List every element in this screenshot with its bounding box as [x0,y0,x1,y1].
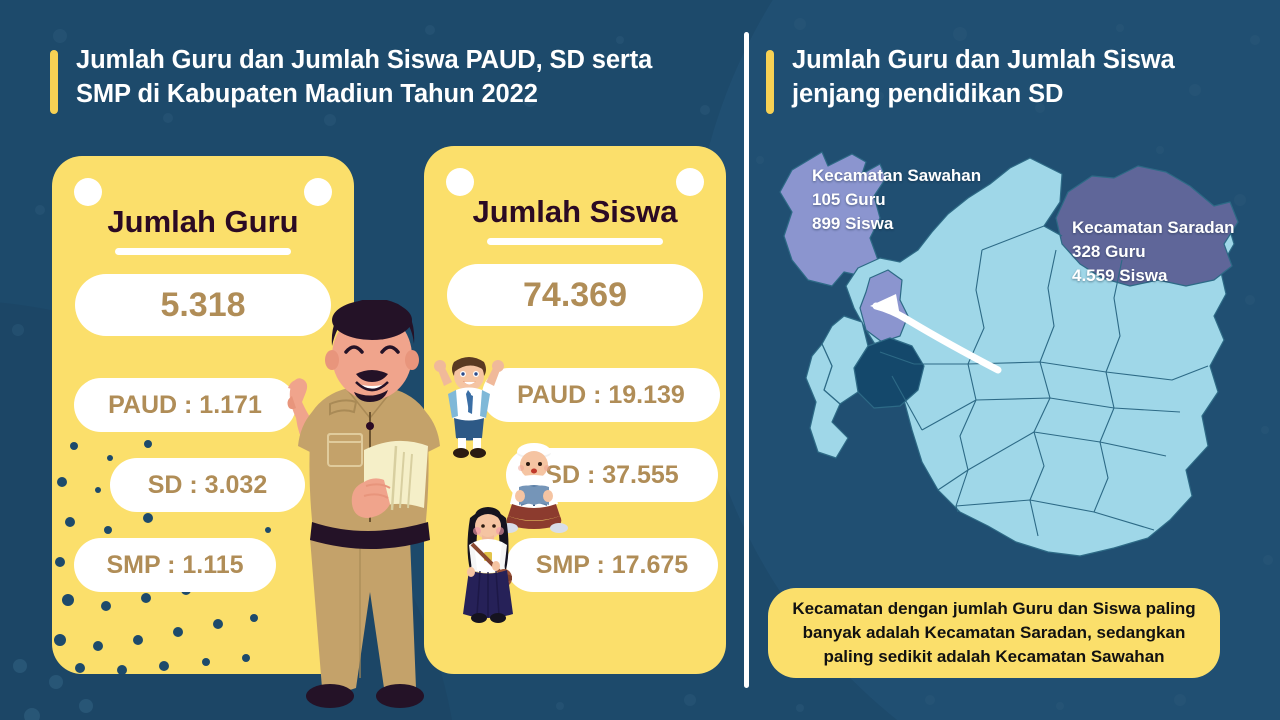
card-hole-right-icon [676,168,704,196]
map-summary-note-text: Kecamatan dengan jumlah Guru dan Siswa p… [782,597,1206,669]
card-title-guru: Jumlah Guru [52,204,354,240]
teacher-pointing-with-book-icon [268,300,478,720]
guru-smp-value: SMP : 1.115 [74,538,276,592]
infographic-canvas: Jumlah Guru dan Jumlah Siswa PAUD, SD se… [0,0,1280,720]
map-label-sawahan-teachers: 105 Guru [812,188,981,212]
title-accent-bar [50,50,58,114]
map-label-sawahan: Kecamatan Sawahan 105 Guru 899 Siswa [812,164,981,236]
siswa-total-value: 74.369 [447,264,703,326]
map-label-sawahan-name: Kecamatan Sawahan [812,164,981,188]
card-title-underline [115,248,291,255]
left-title-text: Jumlah Guru dan Jumlah Siswa PAUD, SD se… [76,44,710,111]
right-panel-title: Jumlah Guru dan Jumlah Siswa jenjang pen… [766,44,1246,111]
siswa-paud-value: PAUD : 19.139 [482,368,720,422]
map-label-saradan-students: 4.559 Siswa [1072,264,1235,288]
left-panel-title: Jumlah Guru dan Jumlah Siswa PAUD, SD se… [50,44,710,111]
card-hole-right-icon [304,178,332,206]
card-hole-left-icon [446,168,474,196]
card-hole-left-icon [74,178,102,206]
map-summary-note: Kecamatan dengan jumlah Guru dan Siswa p… [768,588,1220,678]
map-label-saradan-name: Kecamatan Saradan [1072,216,1235,240]
panel-divider [744,32,749,688]
map-label-saradan: Kecamatan Saradan 328 Guru 4.559 Siswa [1072,216,1235,288]
map-label-sawahan-students: 899 Siswa [812,212,981,236]
title-accent-bar [766,50,774,114]
guru-paud-value: PAUD : 1.171 [74,378,296,432]
right-title-text: Jumlah Guru dan Jumlah Siswa jenjang pen… [792,44,1246,111]
card-title-underline [487,238,663,245]
card-title-siswa: Jumlah Siswa [424,194,726,230]
siswa-smp-value: SMP : 17.675 [506,538,718,592]
map-label-saradan-teachers: 328 Guru [1072,240,1235,264]
kabupaten-madiun-map: Kecamatan Sawahan 105 Guru 899 Siswa Kec… [762,140,1262,580]
